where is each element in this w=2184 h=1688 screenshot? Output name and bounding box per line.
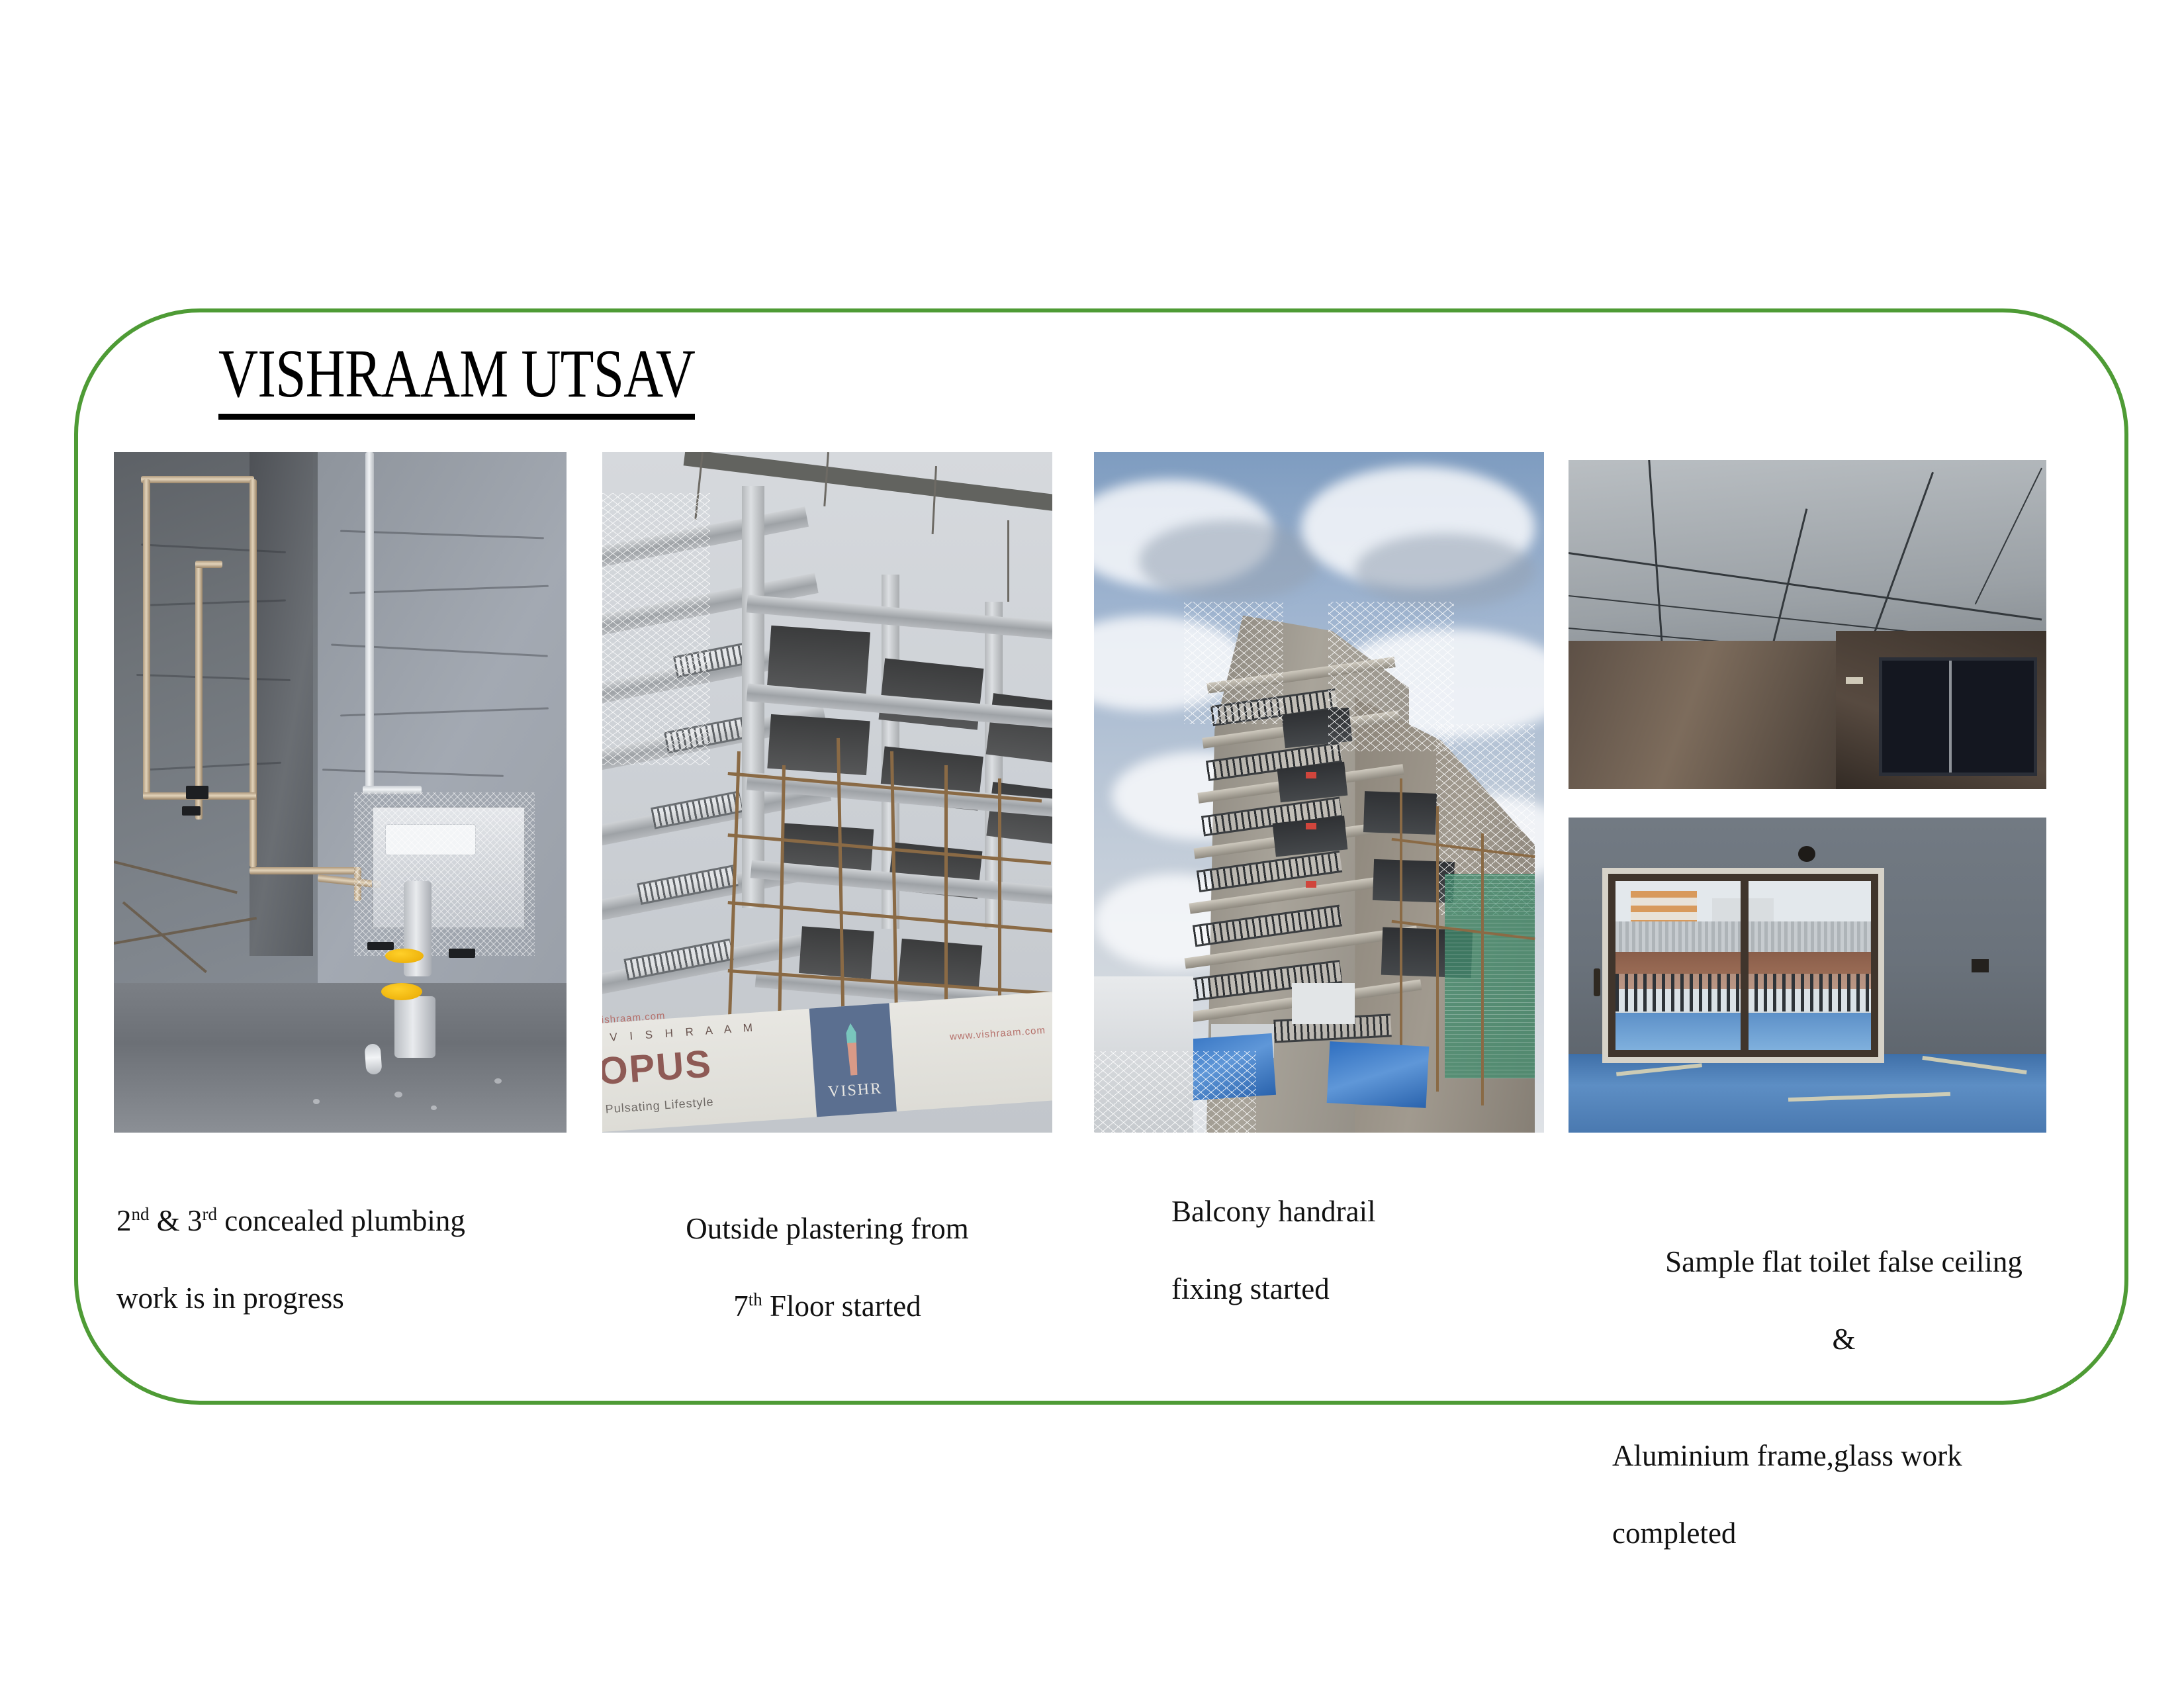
photo-concealed-plumbing (114, 452, 567, 1133)
cpvc-pipe (250, 479, 257, 867)
caption-text: 2 (116, 1204, 132, 1237)
caption-text: work is in progress (116, 1282, 344, 1315)
caption-text: Balcony handrail (1171, 1195, 1376, 1228)
floor-surface (114, 983, 567, 1133)
caption-balcony-handrail: Balcony handrail fixing started (1171, 1153, 1582, 1308)
electrical-socket-box (1972, 959, 1989, 972)
caption-outside-plastering: Outside plastering from 7th Floor starte… (602, 1170, 1052, 1325)
blue-tarpaulin (1326, 1042, 1428, 1108)
window-handle[interactable] (1594, 968, 1600, 996)
hoarding-panel-text: VISHR (828, 1080, 884, 1102)
steel-prop (114, 917, 257, 945)
caption-text: concealed plumbing (217, 1204, 465, 1237)
caption-superscript: th (749, 1289, 762, 1309)
cpvc-pipe (195, 561, 222, 568)
page-title: VISHRAAM UTSAV (218, 338, 695, 420)
chicken-mesh (354, 792, 535, 956)
caption-superscript: nd (132, 1204, 150, 1224)
pipe-bracket (449, 949, 475, 958)
pipe-clamp (186, 786, 208, 799)
site-hoarding: w.vishraam.com V I S H R A A M OPUS Puls… (602, 992, 1052, 1133)
photo-balcony-handrail (1094, 452, 1544, 1133)
pvc-drain-pipe (365, 452, 374, 792)
caption-superscript: rd (203, 1204, 218, 1224)
pipe-clamp (182, 806, 201, 816)
cpvc-pipe (141, 476, 254, 483)
hoarding-brand-large: OPUS (602, 1041, 713, 1094)
pvc-drum (394, 996, 435, 1058)
caption-text: Aluminium frame,glass work (1612, 1439, 1962, 1472)
cpvc-pipe (143, 479, 150, 799)
toilet-wall-tiles-left (1569, 641, 1836, 789)
hoarding-logo-panel: VISHR (810, 1003, 897, 1117)
photo-toilet-false-ceiling (1569, 460, 2046, 789)
pipe-bracket (367, 942, 394, 950)
ceiling-light-fixture (1846, 677, 1863, 684)
hoarding-url-left: w.vishraam.com (602, 1009, 666, 1026)
caption-text: completed (1612, 1517, 1736, 1550)
caption-text: & 3 (150, 1204, 203, 1237)
concrete-column (250, 452, 313, 956)
yellow-pipe-cap (381, 983, 422, 1000)
floor-protection-sheet (1569, 1054, 2046, 1133)
caption-sample-flat-toilet: Sample flat toilet false ceiling & Alumi… (1612, 1165, 2075, 1591)
aluminium-window-frame (1602, 868, 1884, 1063)
photo-aluminium-window (1569, 818, 2046, 1133)
pvc-drain-pipe (365, 1043, 383, 1075)
steel-prop (114, 861, 237, 894)
caption-text: fixing started (1171, 1272, 1330, 1305)
caption-text: 7 (733, 1289, 749, 1323)
cpvc-pipe (250, 867, 358, 874)
caption-concealed-plumbing: 2nd & 3rd concealed plumbing work is in … (116, 1162, 580, 1317)
hoarding-brand-small: V I S H R A A M (610, 1021, 758, 1045)
caption-text: Sample flat toilet false ceiling (1665, 1245, 2023, 1278)
conduit-hole (1798, 846, 1815, 862)
window-glass-area (1608, 874, 1878, 1057)
vishraam-leaf-logo-icon (830, 1021, 875, 1076)
grid-false-ceiling (1569, 460, 2046, 647)
photo-outside-plastering: w.vishraam.com V I S H R A A M OPUS Puls… (602, 452, 1052, 1133)
caption-text: & (1832, 1323, 1855, 1356)
window-sash-mullion (1741, 881, 1749, 1050)
caption-text: Outside plastering from (686, 1212, 968, 1245)
hoarding-tagline: Pulsating Lifestyle (605, 1095, 714, 1116)
caption-text: Floor started (762, 1289, 921, 1323)
green-safety-net (1445, 874, 1535, 1078)
toilet-window (1879, 657, 2036, 776)
cpvc-pipe (195, 561, 203, 820)
hoarding-url: www.vishraam.com (950, 1025, 1046, 1043)
